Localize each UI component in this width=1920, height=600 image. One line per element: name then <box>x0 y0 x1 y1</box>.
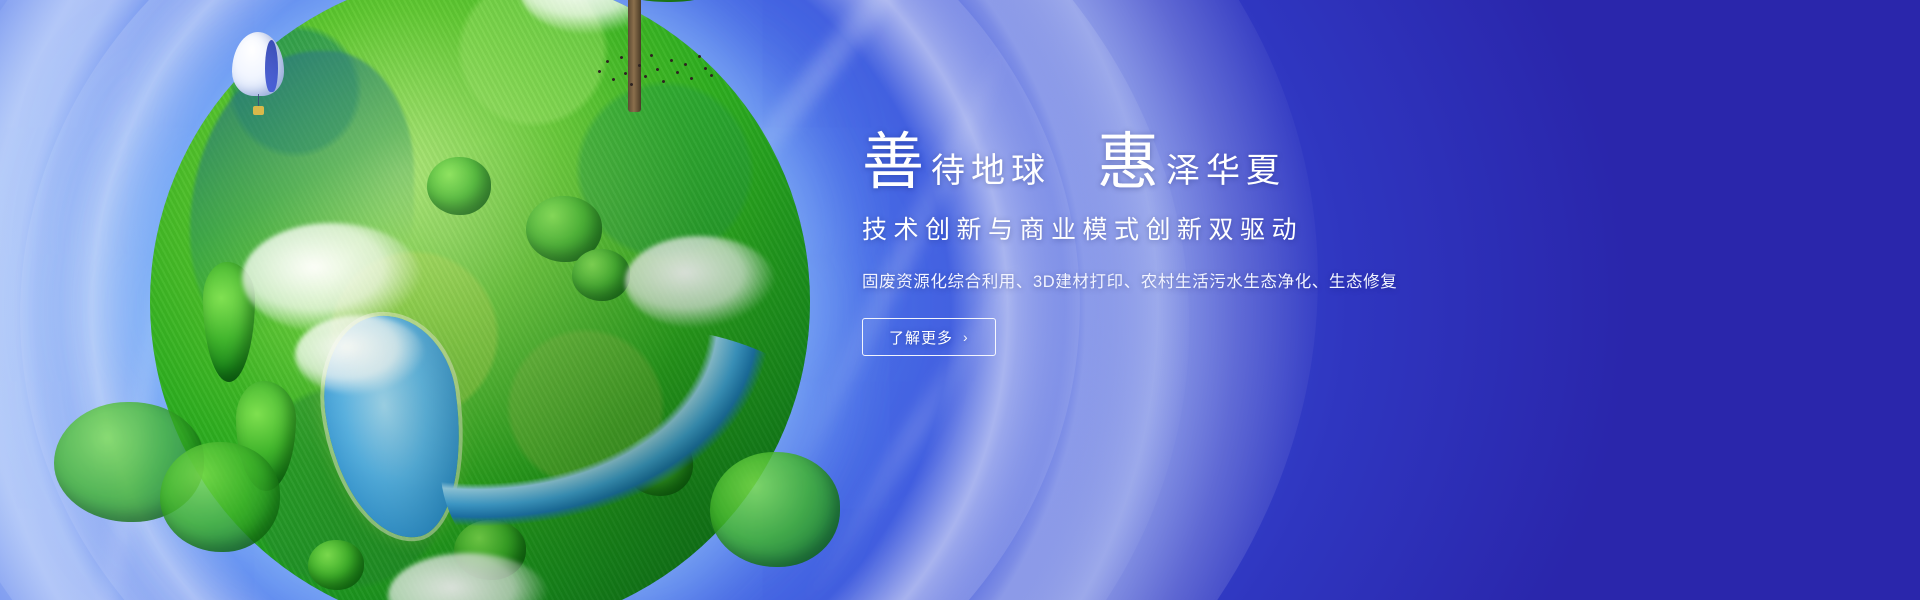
tree-canopy-icon <box>160 442 280 552</box>
headline-part-1: 待地球 <box>925 155 1051 194</box>
learn-more-label: 了解更多 <box>889 327 953 348</box>
fringe-tree-icon <box>160 442 280 572</box>
hero-description: 固废资源化综合利用、3D建材打印、农村生活污水生态净化、生态修复 <box>862 268 1582 292</box>
headline-part-2: 泽华夏 <box>1160 155 1286 194</box>
tree-canopy-icon <box>560 0 770 2</box>
balloon-stripe <box>265 40 278 92</box>
fringe-tree-icon <box>710 452 840 582</box>
tree-canopy-icon <box>710 452 840 567</box>
hot-air-balloon-icon <box>232 32 284 124</box>
headline-char-1: 善 <box>862 132 925 194</box>
headline-char-2: 惠 <box>1097 132 1160 194</box>
hero-subtitle: 技术创新与商业模式创新双驱动 <box>862 210 1582 246</box>
balloon-basket <box>253 106 264 115</box>
chevron-right-icon: › <box>963 329 969 345</box>
learn-more-button[interactable]: 了解更多 › <box>862 318 996 356</box>
page-title: 善 待地球 惠 泽华夏 <box>862 132 1582 194</box>
hero-copy: 善 待地球 惠 泽华夏 技术创新与商业模式创新双驱动 固废资源化综合利用、3D建… <box>862 132 1582 356</box>
hero-banner: 善 待地球 惠 泽华夏 技术创新与商业模式创新双驱动 固废资源化综合利用、3D建… <box>0 0 1920 600</box>
bird-flock-icon <box>596 50 716 92</box>
